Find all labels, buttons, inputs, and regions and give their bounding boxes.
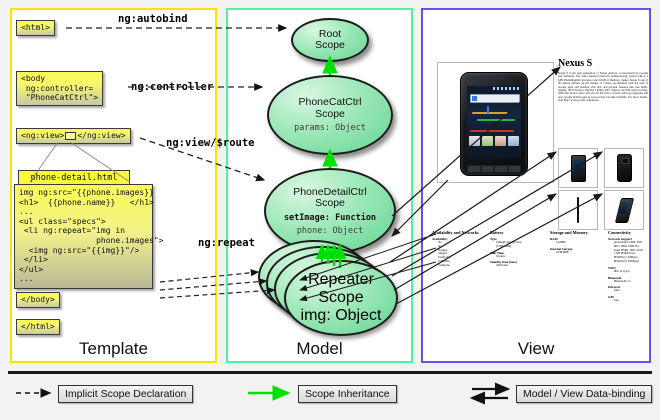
legend-model-view-databinding: Model / View Data-binding bbox=[516, 385, 652, 403]
ngview-slot-icon bbox=[65, 132, 76, 140]
scope-phonecatctrl: PhoneCatCtrl Scope params: Object bbox=[267, 75, 393, 155]
scope-phonedetailctrl-prop-setimage: setImage: Function bbox=[284, 213, 376, 223]
specs-value: 6 hours bbox=[490, 255, 542, 259]
phone-wallpaper-line-3 bbox=[470, 130, 514, 132]
scope-phonecatctrl-line1: PhoneCatCtrl bbox=[298, 97, 361, 109]
scope-root: Root Scope bbox=[291, 18, 369, 62]
phone-wallpaper-line-1 bbox=[472, 112, 508, 114]
code-box-phone-detail: img ng:src="{{phone.images}} <h1> {{phon… bbox=[14, 184, 153, 289]
scope-phonecatctrl-line2: Scope bbox=[315, 109, 345, 121]
phone-wallpaper-line-4 bbox=[487, 106, 489, 114]
legend-scope-inheritance: Scope Inheritance bbox=[298, 385, 397, 403]
specs-value: 512MB bbox=[550, 241, 605, 245]
code-box-body-close: </body> bbox=[16, 292, 60, 308]
specs-value: 16384MB bbox=[550, 251, 605, 255]
specs-header: Battery bbox=[490, 230, 542, 235]
phone-speaker bbox=[483, 77, 505, 79]
detail-file-title: phone-detail.html bbox=[18, 170, 130, 185]
code-box-ngview: <ng:view></ng:view> bbox=[16, 128, 131, 144]
specs-column-battery: BatteryTypeLithium Ion (Li-Ion)(1500 mAh… bbox=[490, 230, 542, 268]
thumbnail-back-view[interactable] bbox=[604, 148, 644, 188]
scope-repeater-prop-img: img: Object bbox=[301, 307, 382, 325]
phone-menu-button bbox=[482, 166, 494, 172]
phone-search-button bbox=[495, 166, 507, 172]
specs-header: Availability and Networks bbox=[432, 230, 484, 235]
ngview-close-tag: </ng:view> bbox=[77, 131, 125, 140]
view-phone-title: Nexus S bbox=[558, 58, 592, 69]
scope-repeater-line2: Scope bbox=[318, 289, 363, 307]
specs-header: Storage and Memory bbox=[550, 230, 605, 235]
specs-column-connectivity: ConnectivityNetwork SupportQuad-band GSM… bbox=[608, 230, 660, 303]
specs-value: 802.11 b/g/n bbox=[608, 270, 660, 274]
phone-home-button bbox=[509, 166, 521, 172]
phone-edge-thumb-icon bbox=[577, 197, 580, 223]
panel-view-label: View bbox=[423, 339, 649, 359]
phone-back-thumb-icon bbox=[617, 154, 632, 182]
dock-app-icon-2 bbox=[482, 136, 493, 146]
phone-screen bbox=[467, 86, 521, 158]
scope-phonedetailctrl-prop-phone: phone: Object bbox=[297, 226, 364, 236]
code-box-html-open: <html> bbox=[16, 20, 55, 36]
specs-column-availability: Availability and NetworksAvailability3G4… bbox=[432, 230, 484, 268]
legend-separator-rule bbox=[8, 371, 652, 374]
legend-implicit-scope-declaration: Implicit Scope Declaration bbox=[58, 385, 193, 403]
view-phone-description: Nexus S is the next generation of Nexus … bbox=[558, 72, 648, 103]
specs-value: Vodafone bbox=[432, 264, 484, 268]
scope-repeater: Repeater Scope img: Object bbox=[284, 260, 398, 336]
scope-repeater-stack: Repeater Scope img: Object bbox=[258, 240, 398, 350]
specs-value: Bluetooth 2.1 bbox=[608, 280, 660, 284]
scope-phonedetailctrl-line2: Scope bbox=[315, 198, 345, 210]
scope-repeater-line1: Repeater bbox=[308, 271, 374, 289]
thumbnail-edge-view[interactable] bbox=[558, 190, 598, 230]
phone-nav-buttons bbox=[467, 165, 521, 173]
specs-column-storage: Storage and MemoryRAM512MBInternal Stora… bbox=[550, 230, 605, 255]
phone-statusbar bbox=[493, 87, 519, 90]
specs-value: (1500 mAh) bbox=[490, 245, 542, 249]
diagram-root: Template Model View <html> <body ng:cont… bbox=[0, 0, 660, 420]
thumbnail-front-view[interactable] bbox=[558, 148, 598, 188]
phone-app-dock bbox=[469, 136, 519, 148]
specs-value: false bbox=[608, 289, 660, 293]
phone-angled-thumb-icon bbox=[616, 198, 632, 222]
phone-back-button bbox=[468, 166, 480, 172]
specs-value: HSUPA (5.76Mbps) bbox=[608, 260, 660, 264]
code-box-body-open: <body ng:controller= "PhoneCatCtrl"> bbox=[16, 71, 103, 106]
connector-label-route: ng:view/$route bbox=[166, 137, 255, 149]
phone-wallpaper-line-2 bbox=[477, 119, 515, 121]
nexus-s-phone-render bbox=[460, 72, 528, 176]
connector-label-controller: ng:controller bbox=[131, 81, 213, 93]
phone-front-thumb-icon bbox=[571, 155, 586, 182]
thumbnail-angled-view[interactable] bbox=[604, 190, 644, 230]
panel-template-label: Template bbox=[12, 339, 215, 359]
specs-value: 428 hours bbox=[490, 264, 542, 268]
specs-header: Connectivity bbox=[608, 230, 660, 235]
connector-label-autobind: ng:autobind bbox=[118, 13, 188, 25]
code-box-html-close: </html> bbox=[16, 319, 60, 335]
connector-label-repeat: ng:repeat bbox=[198, 237, 255, 249]
specs-value: true bbox=[608, 299, 660, 303]
phone-search-widget bbox=[470, 94, 520, 103]
scope-root-line2: Scope bbox=[315, 40, 345, 52]
dock-app-icon-1 bbox=[469, 136, 480, 146]
scope-phonecatctrl-prop-params: params: Object bbox=[294, 123, 366, 133]
phone-hero-image bbox=[437, 62, 554, 183]
ngview-open-tag: <ng:view> bbox=[21, 131, 64, 140]
google-g-icon bbox=[472, 96, 477, 101]
dock-app-icon-3 bbox=[495, 136, 506, 146]
dock-app-icon-4 bbox=[508, 136, 519, 146]
